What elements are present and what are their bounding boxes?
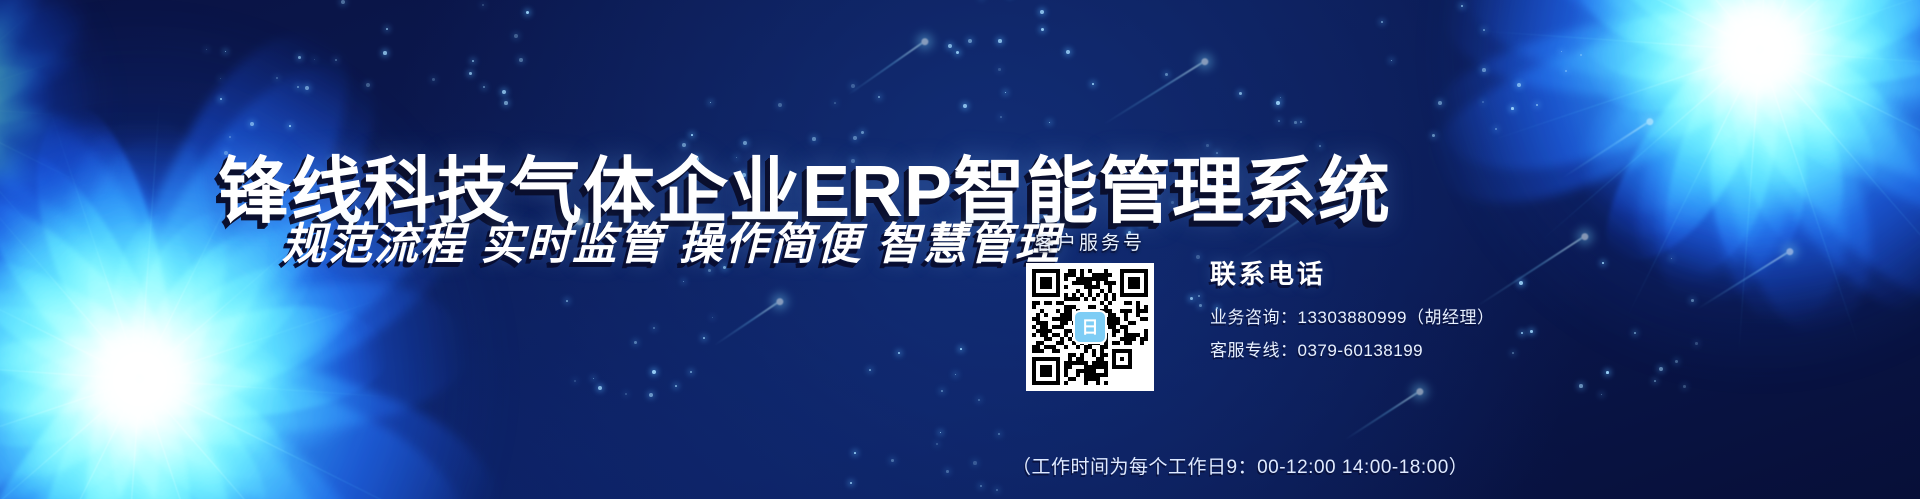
contact-block: 客户服务号 日 联系电话 业务咨询：13303880999（胡经理） 客服专线：…: [1010, 228, 1770, 488]
phone-line-sales: 业务咨询：13303880999（胡经理）: [1210, 303, 1495, 328]
qr-code-image[interactable]: 日: [1026, 263, 1154, 391]
working-hours-note: （工作时间为每个工作日9：00-12:00 14:00-18:00）: [1012, 452, 1468, 479]
phone-line-service: 客服专线：0379-60138199: [1210, 336, 1495, 361]
phone-column: 联系电话 业务咨询：13303880999（胡经理） 客服专线：0379-601…: [1210, 254, 1495, 369]
qr-column: 客户服务号 日: [1010, 228, 1170, 391]
erp-promo-banner: 锋线科技气体企业ERP智能管理系统 规范流程 实时监管 操作简便 智慧管理 客户…: [0, 0, 1920, 499]
qr-center-logo-icon: 日: [1073, 310, 1107, 344]
banner-slogan: 规范流程 实时监管 操作简便 智慧管理: [282, 208, 1061, 272]
contact-phone-heading: 联系电话: [1210, 254, 1495, 291]
qr-caption-label: 客户服务号: [1010, 228, 1170, 255]
